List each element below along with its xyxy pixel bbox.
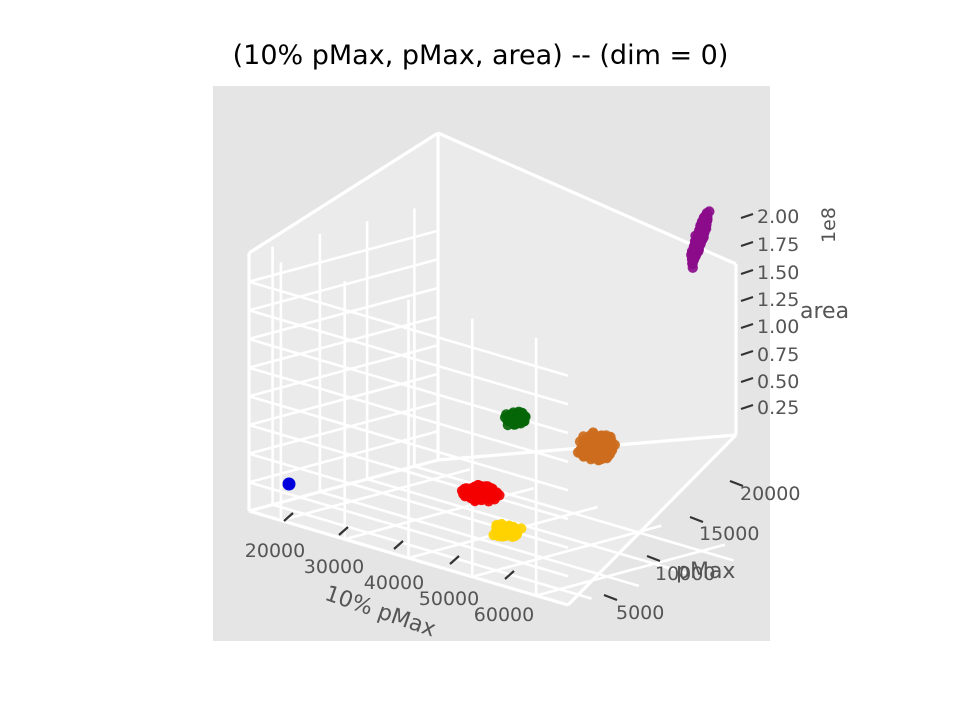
data-point bbox=[504, 413, 514, 423]
ytick-label-20000: 20000 bbox=[740, 483, 800, 505]
xtick-label-30000: 30000 bbox=[304, 556, 364, 578]
data-point bbox=[688, 263, 698, 273]
cluster-cluster-blue[interactable] bbox=[283, 478, 296, 491]
ztick-label-0.75: 0.75 bbox=[757, 344, 799, 366]
ztick-label-0.25: 0.25 bbox=[757, 397, 799, 419]
ztick-label-1.25: 1.25 bbox=[757, 289, 799, 311]
xtick-label-60000: 60000 bbox=[474, 604, 534, 626]
data-point bbox=[704, 206, 714, 216]
zaxis-title: area bbox=[800, 299, 849, 324]
xtick-label-20000: 20000 bbox=[245, 540, 305, 562]
data-point bbox=[695, 230, 705, 240]
data-point bbox=[476, 491, 486, 501]
zaxis-offset-text: 1e8 bbox=[818, 207, 840, 243]
data-point bbox=[487, 492, 497, 502]
ztick-label-2.00: 2.00 bbox=[757, 206, 799, 228]
data-point bbox=[591, 444, 601, 454]
data-point bbox=[695, 221, 705, 231]
ztick-label-1.00: 1.00 bbox=[757, 316, 799, 338]
ytick-label-15000: 15000 bbox=[699, 523, 759, 545]
ztick-label-0.50: 0.50 bbox=[757, 371, 799, 393]
data-point bbox=[491, 528, 501, 538]
ytick-label-5000: 5000 bbox=[616, 602, 664, 624]
data-point bbox=[503, 526, 513, 536]
data-point bbox=[283, 478, 296, 491]
data-point bbox=[473, 480, 483, 490]
matplotlib-figure: (10% pMax, pMax, area) -- (dim = 0) 2000… bbox=[0, 0, 961, 721]
xtick-label-40000: 40000 bbox=[364, 572, 424, 594]
xtick-label-50000: 50000 bbox=[419, 588, 479, 610]
data-point bbox=[464, 489, 474, 499]
scatter3d-plot[interactable]: 2000030000400005000060000500010000150002… bbox=[0, 0, 961, 721]
ztick-label-1.75: 1.75 bbox=[757, 234, 799, 256]
ztick-label-1.50: 1.50 bbox=[757, 262, 799, 284]
yaxis-title: pMax bbox=[676, 559, 735, 584]
